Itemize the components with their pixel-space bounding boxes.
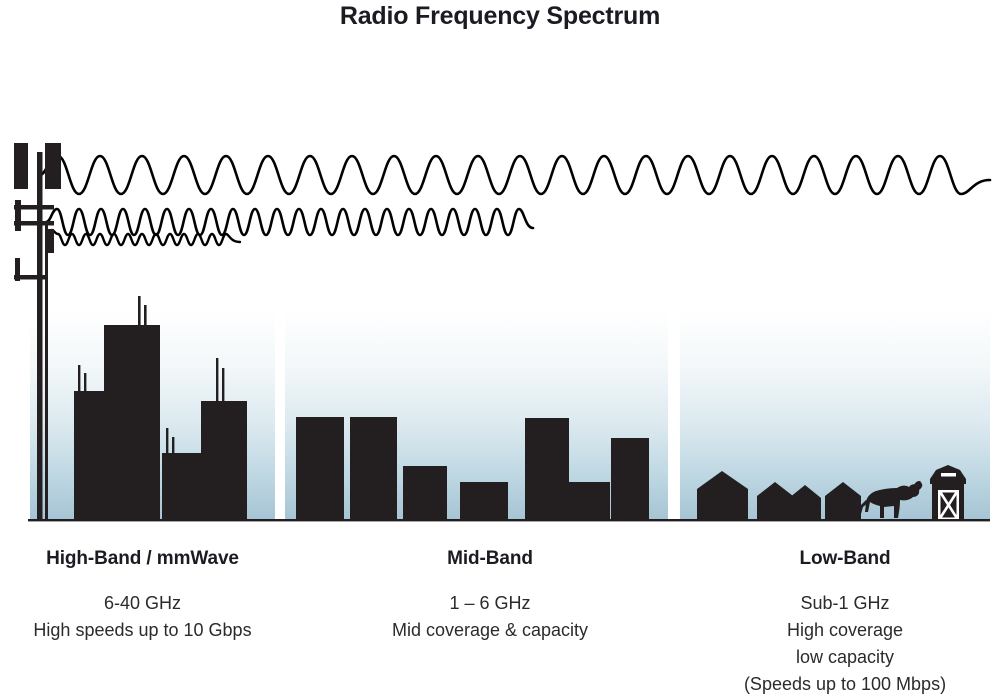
long-wavelength-wave <box>40 156 990 194</box>
tower-antenna-panel-left <box>14 143 28 189</box>
band-line-low-band-2: low capacity <box>700 644 990 671</box>
midband-building-3 <box>403 466 447 520</box>
medium-wavelength-wave <box>46 209 533 235</box>
skyscraper-2 <box>104 325 160 520</box>
midband-building-4 <box>460 482 508 520</box>
tower-antenna-panel-mid2 <box>48 229 54 253</box>
skyscraper-1 <box>74 391 104 520</box>
infographic-root: Radio Frequency Spectrum <box>0 0 1000 700</box>
skyscraper-antenna-4b <box>222 368 224 401</box>
band-line-mid-band-1: Mid coverage & capacity <box>355 617 625 644</box>
skyscraper-antenna-3b <box>172 437 174 454</box>
band-line-low-band-3: (Speeds up to 100 Mbps) <box>700 671 990 698</box>
band-line-low-band-1: High coverage <box>700 617 990 644</box>
midband-building-5 <box>525 418 569 520</box>
midband-building-1 <box>296 417 344 520</box>
skyscraper-antenna-3 <box>166 428 168 454</box>
midband-building-6 <box>569 482 610 520</box>
radio-waves <box>40 156 990 245</box>
barn <box>930 465 966 520</box>
midband-building-7 <box>611 438 649 520</box>
band-title-low-band: Low-Band <box>700 548 990 570</box>
band-caption-mid-band: Mid-Band 1 – 6 GHz Mid coverage & capaci… <box>355 548 625 644</box>
band-line-high-band-1: High speeds up to 10 Gbps <box>0 617 285 644</box>
skyscraper-antenna-2b <box>144 305 147 326</box>
skyscraper-4 <box>201 401 247 520</box>
tower-antenna-panel-right <box>45 143 61 189</box>
band-caption-low-band: Low-Band Sub-1 GHz High coverage low cap… <box>700 548 990 698</box>
band-line-mid-band-0: 1 – 6 GHz <box>355 590 625 617</box>
band-caption-high-band: High-Band / mmWave 6-40 GHz High speeds … <box>0 548 285 644</box>
tower-antenna-panel-mid <box>15 200 21 231</box>
band-line-low-band-0: Sub-1 GHz <box>700 590 990 617</box>
ground-line <box>28 519 990 521</box>
barn-loft-window <box>941 473 956 477</box>
tower-antenna-panel-low <box>15 258 20 281</box>
midband-building-2 <box>350 417 397 520</box>
tower-mast-secondary <box>45 225 48 520</box>
band-title-high-band: High-Band / mmWave <box>0 548 285 570</box>
band-line-high-band-0: 6-40 GHz <box>0 590 285 617</box>
band-title-mid-band: Mid-Band <box>355 548 625 570</box>
short-wavelength-wave <box>52 230 240 245</box>
skyscraper-3 <box>162 453 201 520</box>
skyscraper-antenna-4 <box>216 358 218 401</box>
skyscraper-antenna-2 <box>138 296 141 326</box>
